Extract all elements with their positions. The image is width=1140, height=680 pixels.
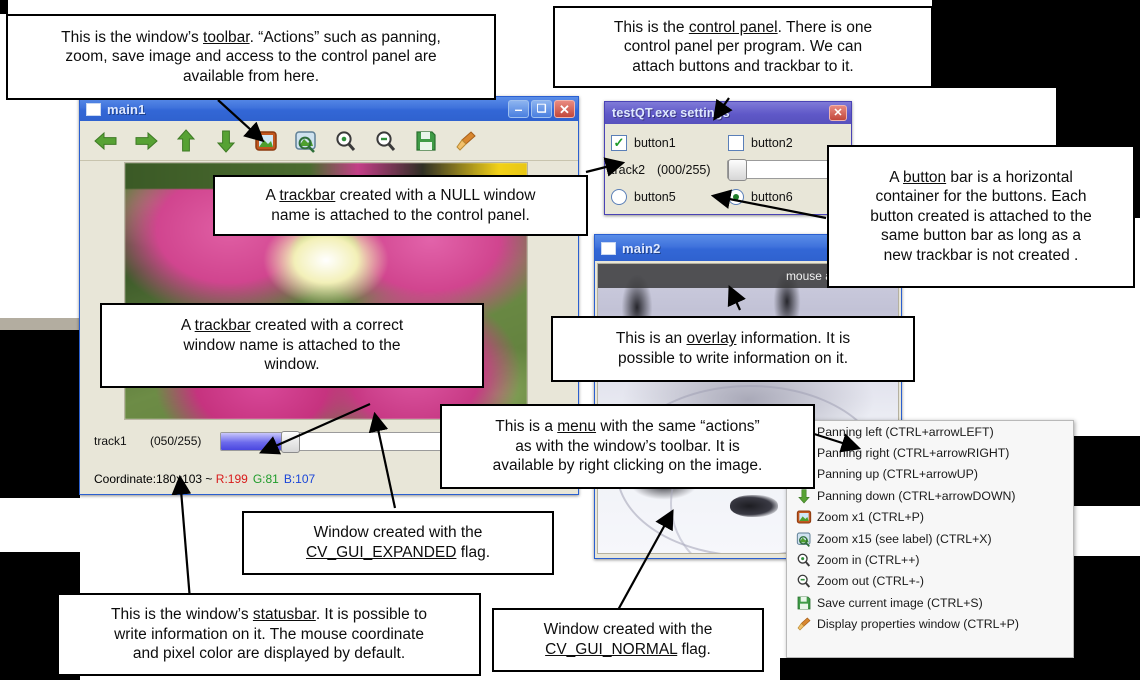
cp-trackbar-name: track2 (611, 163, 657, 177)
callout-sb-l1a: This is the window’s (111, 606, 253, 623)
menu-item-panning-up[interactable]: Panning up (CTRL+arrowUP) (787, 464, 1073, 485)
cp-trackbar-value: (000/255) (657, 163, 727, 177)
main2-title: main2 (622, 241, 661, 256)
callout-tbn-l1a: A (266, 187, 280, 204)
menu-item-zoom-in[interactable]: Zoom in (CTRL++) (787, 549, 1073, 570)
menu-item-label: Zoom x1 (CTRL+P) (817, 510, 924, 524)
radio-icon-selected[interactable] (728, 189, 744, 205)
callout-toolbar-l1u: toolbar (203, 29, 250, 46)
control-panel-checkbox-row: ✓ button1 button2 (611, 129, 845, 156)
callout-cp-l1a: This is the (614, 19, 689, 36)
callout-bb-l1u: button (903, 169, 946, 186)
callout-tbw-l1b: created with a correct (251, 317, 403, 334)
callout-statusbar: This is the window’s statusbar. It is po… (57, 593, 481, 676)
callout-trackbar-null: A trackbar created with a NULL window na… (213, 175, 588, 236)
grey-region-left (0, 318, 80, 330)
zoom-x1-icon (791, 508, 817, 526)
callout-sb-l1b: . It is possible to (316, 606, 427, 623)
callout-tbw-l1a: A (181, 317, 195, 334)
main1-trackbar-fill (221, 433, 288, 450)
save-image-icon[interactable] (408, 125, 444, 157)
zoom-out-icon[interactable] (368, 125, 404, 157)
callout-toolbar-l2: zoom, save image and access to the contr… (65, 48, 436, 65)
callout-menu: This is a menu with the same “actions” a… (440, 404, 815, 489)
menu-item-label: Zoom x15 (see label) (CTRL+X) (817, 532, 992, 546)
screenshot-stage: main1 – ❑ ✕ (0, 0, 1140, 680)
callout-mn-l2: as with the window’s toolbar. It is (515, 438, 740, 455)
control-panel-trackbar-row[interactable]: track2 (000/255) (611, 156, 845, 183)
callout-cp-l3: attach buttons and trackbar to it. (632, 58, 853, 75)
checkbox-button1-label: button1 (634, 136, 676, 150)
callout-sb-l2: write information on it. The mouse coord… (114, 626, 424, 643)
callout-ef-l2u: CV_GUI_EXPANDED (306, 544, 456, 561)
menu-item-label: Panning right (CTRL+arrowRIGHT) (817, 446, 1009, 460)
callout-nf-l2b: flag. (677, 641, 711, 658)
callout-overlay: This is an overlay information. It is po… (551, 316, 915, 382)
radio-dot-icon (733, 194, 739, 200)
menu-item-panning-left[interactable]: Panning left (CTRL+arrowLEFT) (787, 421, 1073, 442)
callout-ef-l2b: flag. (456, 544, 490, 561)
window-control-panel[interactable]: testQT.exe settings ✕ ✓ button1 button2 … (604, 101, 852, 215)
zoom-out-icon (791, 572, 817, 590)
close-button[interactable]: ✕ (554, 100, 575, 118)
main1-trackbar-name: track1 (94, 434, 150, 448)
minimize-button[interactable]: – (508, 100, 529, 118)
zoom-in-icon[interactable] (328, 125, 364, 157)
callout-mn-l3: available by right clicking on the image… (493, 457, 763, 474)
callout-normal-flag: Window created with the CV_GUI_NORMAL fl… (492, 608, 764, 672)
callout-nf-l2u: CV_GUI_NORMAL (545, 641, 677, 658)
save-image-icon (791, 594, 817, 612)
pan-left-icon[interactable] (88, 125, 124, 157)
callout-bb-l5: new trackbar is not created . (884, 247, 1079, 264)
callout-toolbar: This is the window’s toolbar. “Actions” … (6, 14, 496, 100)
callout-trackbar-window: A trackbar created with a correct window… (100, 303, 484, 388)
checkbox-icon-unchecked[interactable] (728, 135, 744, 151)
main1-trackbar-knob[interactable] (281, 431, 300, 453)
rink-skater-blur (730, 495, 778, 517)
properties-icon[interactable] (448, 125, 484, 157)
statusbar-tilde: ~ (202, 472, 216, 486)
callout-button-bar: A button bar is a horizontal container f… (827, 145, 1135, 288)
maximize-button[interactable]: ❑ (531, 100, 552, 118)
main1-trackbar-value: (050/255) (150, 434, 220, 448)
zoom-x15-icon (791, 530, 817, 548)
callout-toolbar-l3: available from here. (183, 68, 319, 85)
control-panel-titlebar[interactable]: testQT.exe settings ✕ (605, 102, 851, 124)
main1-title: main1 (107, 102, 146, 117)
menu-item-label: Panning down (CTRL+arrowDOWN) (817, 489, 1016, 503)
menu-item-zoom-x15[interactable]: Zoom x15 (see label) (CTRL+X) (787, 528, 1073, 549)
black-region-left-mid (0, 330, 80, 498)
properties-icon (791, 615, 817, 633)
pan-down-icon[interactable] (208, 125, 244, 157)
callout-ov-l1b: information. It is (736, 330, 850, 347)
radio-button5[interactable]: button5 (611, 189, 728, 205)
statusbar-green: G:81 (253, 472, 279, 486)
radio-button6-label: button6 (751, 190, 793, 204)
black-region-top-left (0, 0, 8, 14)
callout-tbw-l1u: trackbar (195, 317, 251, 334)
menu-item-panning-down[interactable]: Panning down (CTRL+arrowDOWN) (787, 485, 1073, 506)
statusbar-coords: 180x103 (156, 472, 202, 486)
cp-trackbar-knob[interactable] (728, 159, 747, 181)
checkbox-button2-label: button2 (751, 136, 793, 150)
menu-item-label: Zoom in (CTRL++) (817, 553, 920, 567)
menu-item-zoom-out[interactable]: Zoom out (CTRL+-) (787, 571, 1073, 592)
menu-item-label: Panning left (CTRL+arrowLEFT) (817, 425, 994, 439)
callout-tbn-l1u: trackbar (279, 187, 335, 204)
statusbar-prefix: Coordinate: (94, 472, 156, 486)
callout-mn-l1u: menu (557, 418, 596, 435)
callout-ov-l1u: overlay (686, 330, 736, 347)
pan-down-icon (791, 487, 817, 505)
main1-titlebar[interactable]: main1 – ❑ ✕ (80, 97, 578, 121)
black-region-top-right (932, 0, 1140, 88)
callout-control-panel: This is the control panel. There is one … (553, 6, 933, 88)
callout-bb-l4: same button bar as long as a (881, 227, 1081, 244)
menu-item-zoom-x1[interactable]: Zoom x1 (CTRL+P) (787, 507, 1073, 528)
checkbox-button1[interactable]: ✓ button1 (611, 135, 728, 151)
checkbox-icon-checked[interactable]: ✓ (611, 135, 627, 151)
callout-bb-l3: button created is attached to the (870, 208, 1091, 225)
menu-item-label: Panning up (CTRL+arrowUP) (817, 467, 978, 481)
window-icon (601, 242, 616, 255)
callout-sb-l1u: statusbar (253, 606, 316, 623)
callout-bb-l1a: A (889, 169, 903, 186)
zoom-x1-icon[interactable] (248, 125, 284, 157)
callout-toolbar-l1b: . “Actions” such as panning, (250, 29, 441, 46)
check-tick-icon: ✓ (614, 136, 625, 149)
callout-mn-l1b: with the same “actions” (596, 418, 760, 435)
callout-cp-l2: control panel per program. We can (624, 38, 862, 55)
menu-item-save-image[interactable]: Save current image (CTRL+S) (787, 592, 1073, 613)
menu-item-label: Zoom out (CTRL+-) (817, 574, 924, 588)
callout-tbw-l2: window name is attached to the (183, 337, 400, 354)
control-panel-close-button[interactable]: ✕ (829, 105, 847, 121)
menu-item-display-properties[interactable]: Display properties window (CTRL+P) (787, 614, 1073, 635)
radio-button5-label: button5 (634, 190, 676, 204)
zoom-x15-icon[interactable] (288, 125, 324, 157)
statusbar-blue: B:107 (284, 472, 315, 486)
callout-bb-l2: container for the buttons. Each (875, 188, 1086, 205)
callout-ov-l2: possible to write information on it. (618, 350, 848, 367)
callout-sb-l3: and pixel color are displayed by default… (133, 645, 405, 662)
callout-expanded-flag: Window created with the CV_GUI_EXPANDED … (242, 511, 554, 575)
control-panel-body: ✓ button1 button2 track2 (000/255) butt (605, 124, 851, 210)
callout-bb-l1b: bar is a horizontal (946, 169, 1073, 186)
menu-item-label: Display properties window (CTRL+P) (817, 617, 1019, 631)
pan-up-icon[interactable] (168, 125, 204, 157)
callout-ov-l1a: This is an (616, 330, 687, 347)
callout-toolbar-l1a: This is the window’s (61, 29, 203, 46)
callout-cp-l1b: . There is one (778, 19, 873, 36)
callout-tbn-l2: name is attached to the control panel. (271, 207, 530, 224)
radio-icon-unselected[interactable] (611, 189, 627, 205)
window-icon (86, 103, 101, 116)
zoom-in-icon (791, 551, 817, 569)
callout-mn-l1a: This is a (495, 418, 557, 435)
pan-right-icon[interactable] (128, 125, 164, 157)
menu-item-panning-right[interactable]: Panning right (CTRL+arrowRIGHT) (787, 442, 1073, 463)
callout-cp-l1u: control panel (689, 19, 778, 36)
statusbar-red: R:199 (216, 472, 248, 486)
callout-tbw-l3: window. (264, 356, 319, 373)
context-menu[interactable]: Panning left (CTRL+arrowLEFT) Panning ri… (786, 420, 1074, 658)
callout-ef-l1: Window created with the (314, 524, 483, 541)
menu-item-label: Save current image (CTRL+S) (817, 596, 983, 610)
callout-tbn-l1b: created with a NULL window (335, 187, 535, 204)
control-panel-radio-row: button5 button6 (611, 183, 845, 210)
main1-toolbar[interactable] (80, 121, 578, 161)
callout-nf-l1: Window created with the (544, 621, 713, 638)
black-region-bottom-mid (780, 658, 1056, 680)
control-panel-title: testQT.exe settings (612, 106, 730, 120)
